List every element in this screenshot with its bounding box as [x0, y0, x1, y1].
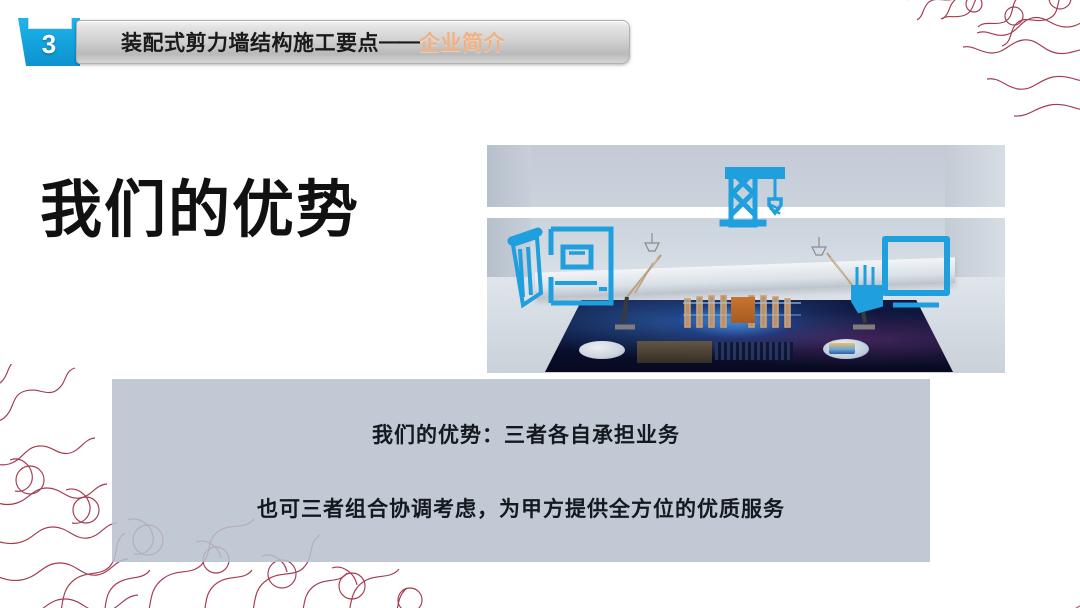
blueprint-icon [547, 225, 615, 307]
photo-real-crane-left [609, 253, 671, 331]
photo-hook-left [642, 233, 662, 253]
construction-visualization-image [487, 145, 1005, 373]
section-title-sub: 企业简介 [419, 27, 505, 57]
photo-small-screen [829, 343, 855, 354]
slide-header: 3 装配式剪力墙结构施工要点 —— 企业简介 [18, 18, 630, 66]
tower-crane-icon [711, 153, 799, 241]
photo-disc-left [579, 341, 625, 359]
cloud-ornament-bottom-right [820, 568, 1080, 608]
photo-hook-right [809, 237, 829, 257]
section-title-bar: 装配式剪力墙结构施工要点 —— 企业简介 [76, 20, 630, 64]
advantages-panel: 我们的优势：三者各自承担业务 也可三者组合协调考虑，为甲方提供全方位的优质服务 [112, 379, 930, 562]
hand-icon [849, 265, 891, 315]
photo-keypad [715, 342, 793, 360]
section-number-text: 3 [42, 31, 56, 66]
advantage-line-2: 也可三者组合协调考虑，为甲方提供全方位的优质服务 [257, 493, 785, 523]
cloud-ornament-top-right [798, 0, 1080, 150]
pencil-icon [507, 227, 545, 311]
section-number-badge: 3 [18, 18, 80, 66]
slide-canvas: 3 装配式剪力墙结构施工要点 —— 企业简介 我们的优势 [0, 0, 1080, 608]
page-title: 我们的优势 [40, 180, 360, 242]
section-title-main: 装配式剪力墙结构施工要点 [121, 27, 379, 57]
advantage-line-1: 我们的优势：三者各自承担业务 [372, 419, 680, 449]
section-title-dash: —— [379, 30, 419, 54]
photo-core-block [731, 297, 755, 323]
badge-notch [28, 17, 72, 29]
photo-info-panel [637, 341, 712, 363]
